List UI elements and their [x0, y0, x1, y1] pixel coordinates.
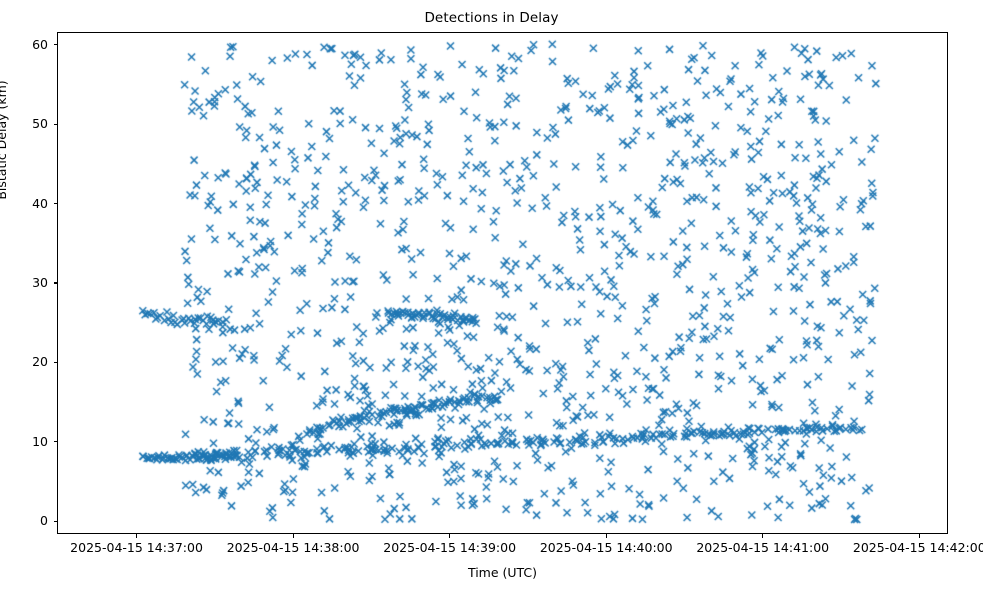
x-tick-mark: [293, 534, 294, 538]
x-tick-label: 2025-04-15 14:37:00: [52, 540, 222, 555]
x-tick-label: 2025-04-15 14:40:00: [521, 540, 691, 555]
x-tick-mark: [449, 534, 450, 538]
x-tick-mark: [136, 534, 137, 538]
x-tick-label: 2025-04-15 14:38:00: [208, 540, 378, 555]
x-tick-mark: [762, 534, 763, 538]
y-tick-label: 60: [0, 37, 48, 52]
x-axis-label: Time (UTC): [57, 565, 948, 580]
page-title: Detections in Delay: [0, 10, 983, 26]
scatter-plot-canvas: [58, 33, 948, 534]
y-tick-label: 50: [0, 116, 48, 131]
y-tick-label: 30: [0, 275, 48, 290]
x-tick-label: 2025-04-15 14:41:00: [678, 540, 848, 555]
y-tick-label: 0: [0, 513, 48, 528]
x-tick-mark: [606, 534, 607, 538]
y-tick-label: 10: [0, 434, 48, 449]
y-tick-label: 20: [0, 354, 48, 369]
plot-area: [57, 32, 948, 534]
x-tick-mark: [919, 534, 920, 538]
x-tick-label: 2025-04-15 14:39:00: [365, 540, 535, 555]
y-tick-label: 40: [0, 196, 48, 211]
x-tick-label: 2025-04-15 14:42:00: [834, 540, 983, 555]
matplotlib-figure: Detections in Delay Bistatic Delay (km) …: [0, 0, 983, 590]
